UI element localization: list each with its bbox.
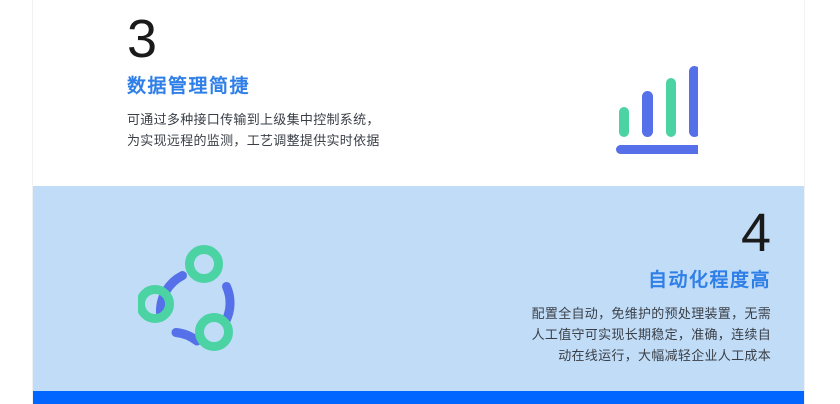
bar-chart-bar-3	[666, 78, 676, 137]
bar-chart-bar-1	[619, 107, 629, 137]
feature-4-body: 配置全自动，免维护的预处理装置，无需 人工值守可实现长期稳定，准确，连续自 动在…	[371, 303, 771, 366]
content-column: 3 数据管理简捷 可通过多种接口传输到上级集中控制系统， 为实现远程的监测，工艺…	[32, 0, 805, 404]
cycle-ring-top-right	[190, 250, 219, 279]
cycle-ring-bottom-right	[200, 318, 229, 347]
bar-chart-baseline	[616, 145, 698, 154]
feature-3-text-group: 3 数据管理简捷 可通过多种接口传输到上级集中控制系统， 为实现远程的监测，工艺…	[127, 10, 487, 151]
feature-3-body: 可通过多种接口传输到上级集中控制系统， 为实现远程的监测，工艺调整提供实时依据	[127, 109, 487, 151]
feature-4-text-group: 4 自动化程度高 配置全自动，免维护的预处理装置，无需 人工值守可实现长期稳定，…	[371, 204, 771, 366]
feature-3-heading: 数据管理简捷	[127, 74, 487, 100]
cycle-arc-right	[226, 287, 230, 321]
cycle-ring-left	[141, 290, 170, 319]
bar-chart-icon	[588, 55, 698, 155]
cycle-arc-bottom-left	[176, 333, 197, 342]
bar-chart-bar-4	[689, 66, 698, 137]
bottom-accent-bar	[33, 391, 804, 404]
feature-4-heading: 自动化程度高	[371, 268, 771, 294]
bar-chart-bar-2	[642, 91, 653, 137]
process-cycle-icon	[138, 244, 250, 356]
feature-block-4: 4 自动化程度高 配置全自动，免维护的预处理装置，无需 人工值守可实现长期稳定，…	[33, 186, 804, 391]
feature-block-3: 3 数据管理简捷 可通过多种接口传输到上级集中控制系统， 为实现远程的监测，工艺…	[33, 0, 804, 186]
feature-4-number: 4	[371, 204, 771, 262]
slide-page: 3 数据管理简捷 可通过多种接口传输到上级集中控制系统， 为实现远程的监测，工艺…	[0, 0, 840, 404]
feature-3-number: 3	[127, 10, 487, 68]
